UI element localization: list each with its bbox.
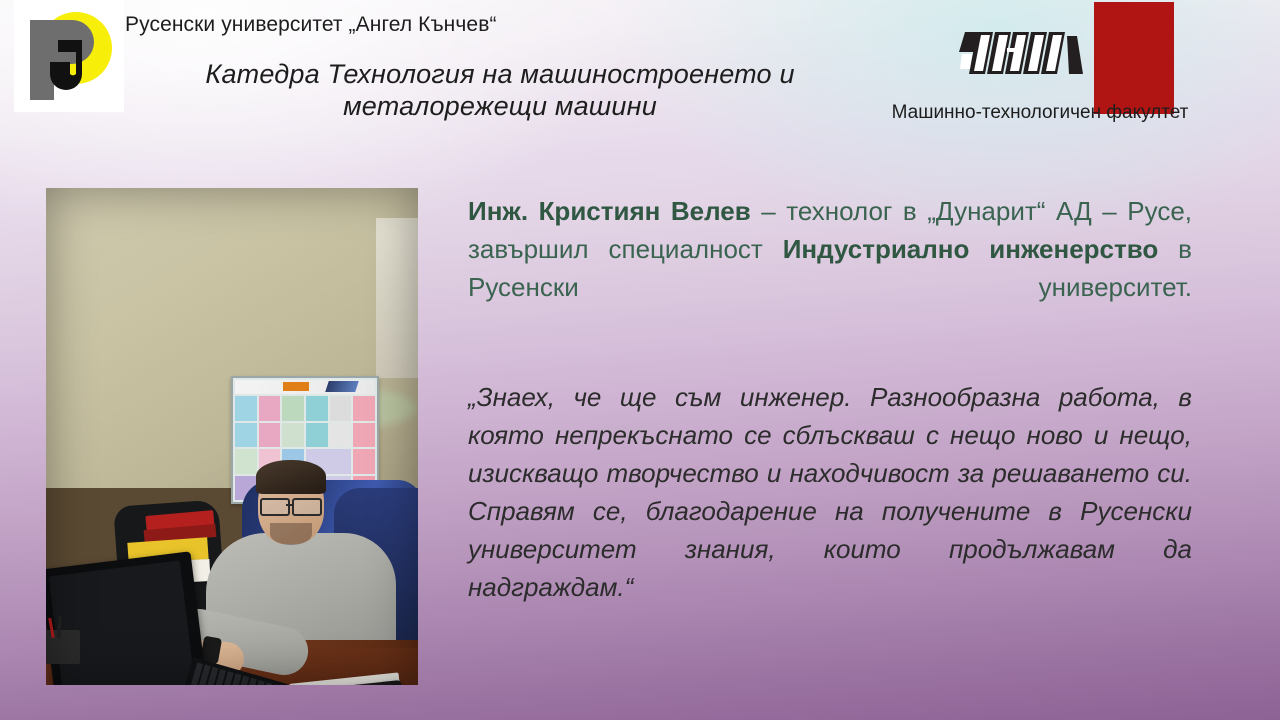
university-logo — [14, 0, 124, 112]
red-accent-block — [1094, 2, 1174, 114]
slide-header: Русенски университет „Ангел Кънчев“ Кате… — [0, 0, 1280, 172]
faculty-helix-icon — [955, 22, 1095, 84]
photo-vignette — [46, 188, 418, 685]
engineer-workplace-photo: THREE SECTIONS — [46, 188, 418, 685]
faculty-name: Машинно-технологичен факултет — [890, 100, 1190, 125]
university-name: Русенски университет „Ангел Кънчев“ — [125, 13, 497, 37]
person-name: Инж. Кристиян Велев — [468, 196, 751, 226]
quote-paragraph: „Знаех, че ще съм инженер. Разнообразна … — [468, 378, 1192, 644]
department-name: Катедра Технология на машиностроенето и … — [120, 58, 880, 122]
slide: Русенски университет „Ангел Кънчев“ Кате… — [0, 0, 1280, 720]
ru-logo-icon — [14, 0, 124, 112]
text-column: Инж. Кристиян Велев – технолог в „Дунари… — [468, 192, 1192, 644]
specialty-name: Индустриално инженерство — [783, 234, 1159, 264]
lead-paragraph: Инж. Кристиян Велев – технолог в „Дунари… — [468, 192, 1192, 344]
